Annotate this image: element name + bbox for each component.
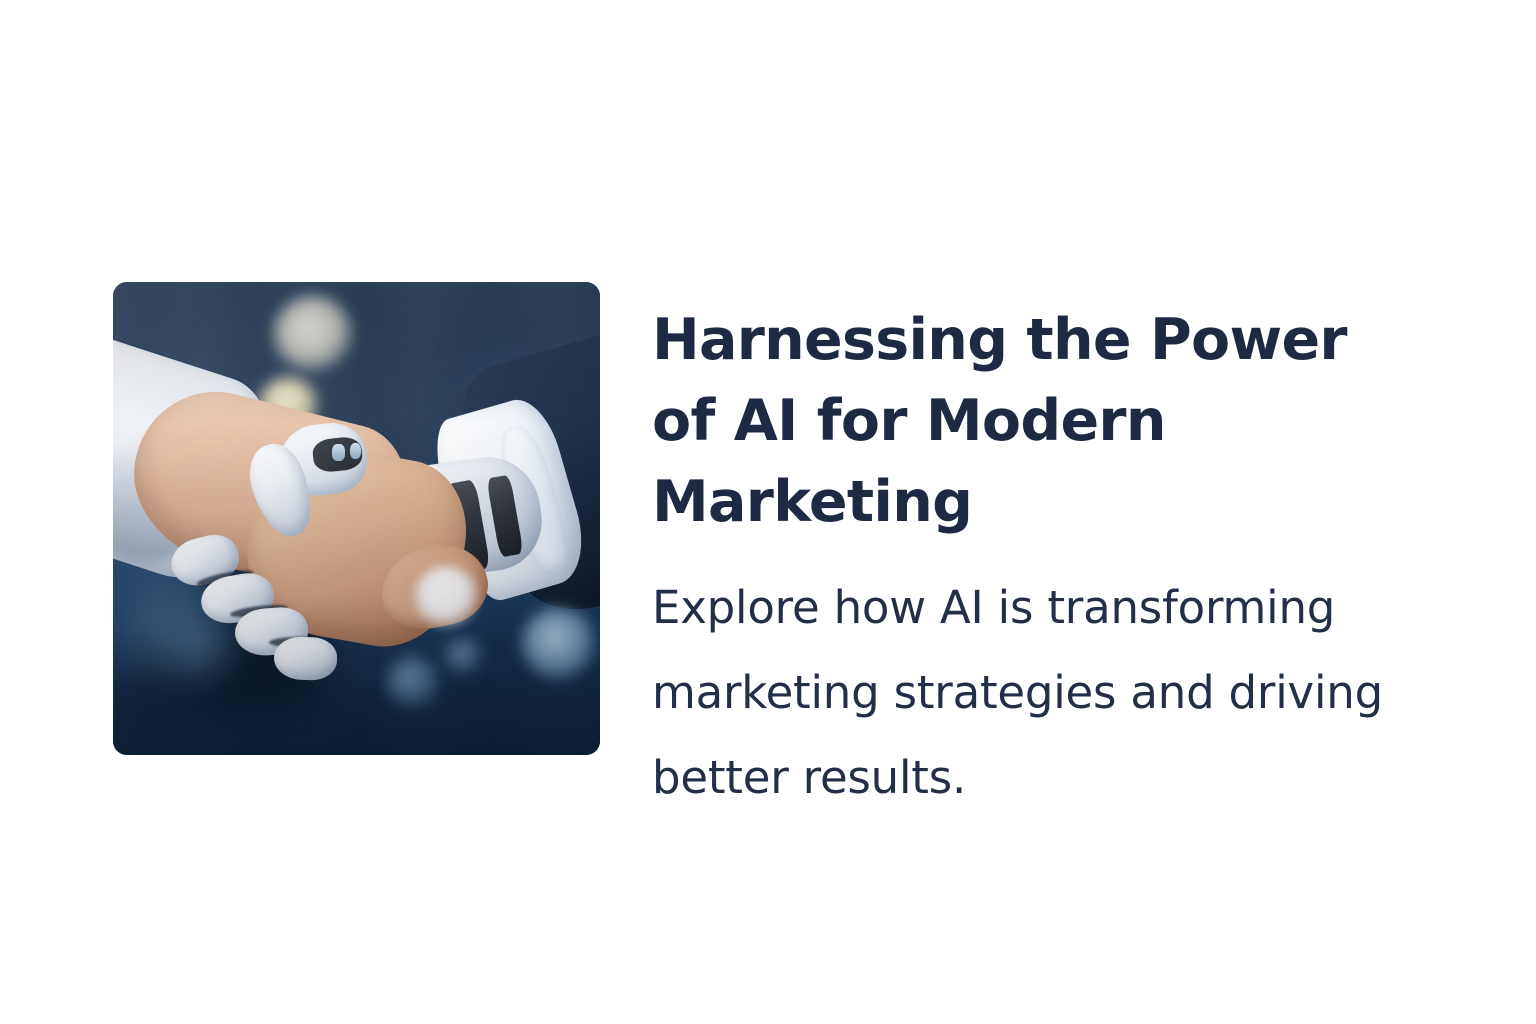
page-title: Harnessing the Power of AI for Modern Ma… [652,300,1412,543]
image-scene [113,282,600,755]
handshake-human-robot-image [113,282,600,755]
card-description: Explore how AI is transforming marketing… [652,543,1464,820]
image-grain-overlay [113,282,600,755]
article-preview-card: Harnessing the Power of AI for Modern Ma… [0,0,1536,1024]
card-text-column: Harnessing the Power of AI for Modern Ma… [652,300,1472,820]
